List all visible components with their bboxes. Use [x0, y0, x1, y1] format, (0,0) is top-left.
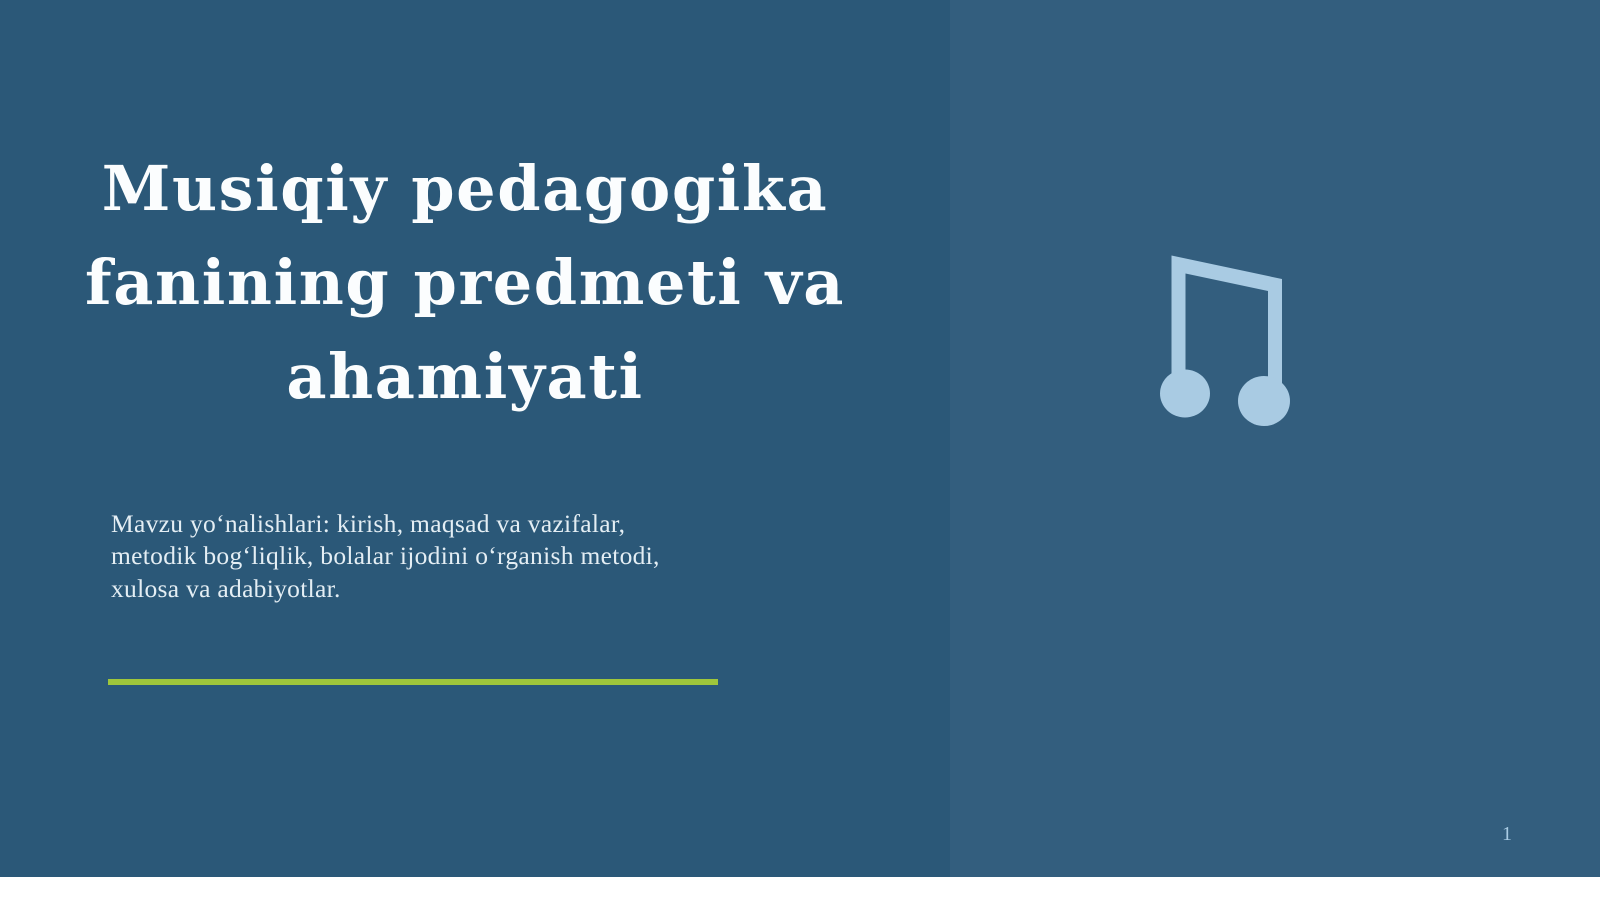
page-number: 1	[1502, 824, 1512, 844]
slide-bottom-strip	[0, 877, 1600, 900]
music-note-graphic	[1160, 250, 1290, 428]
music-double-eighth-note-icon	[1160, 250, 1290, 428]
slide-title: Musiqiy pedagogika fanining predmeti va …	[20, 142, 910, 425]
presentation-slide: Musiqiy pedagogika fanining predmeti va …	[0, 0, 1600, 900]
slide-right-panel	[950, 0, 1600, 877]
accent-rule-divider	[108, 679, 718, 685]
slide-subtitle: Mavzu yoʻnalishlari: kirish, maqsad va v…	[111, 508, 811, 605]
slide-left-panel	[0, 0, 950, 877]
